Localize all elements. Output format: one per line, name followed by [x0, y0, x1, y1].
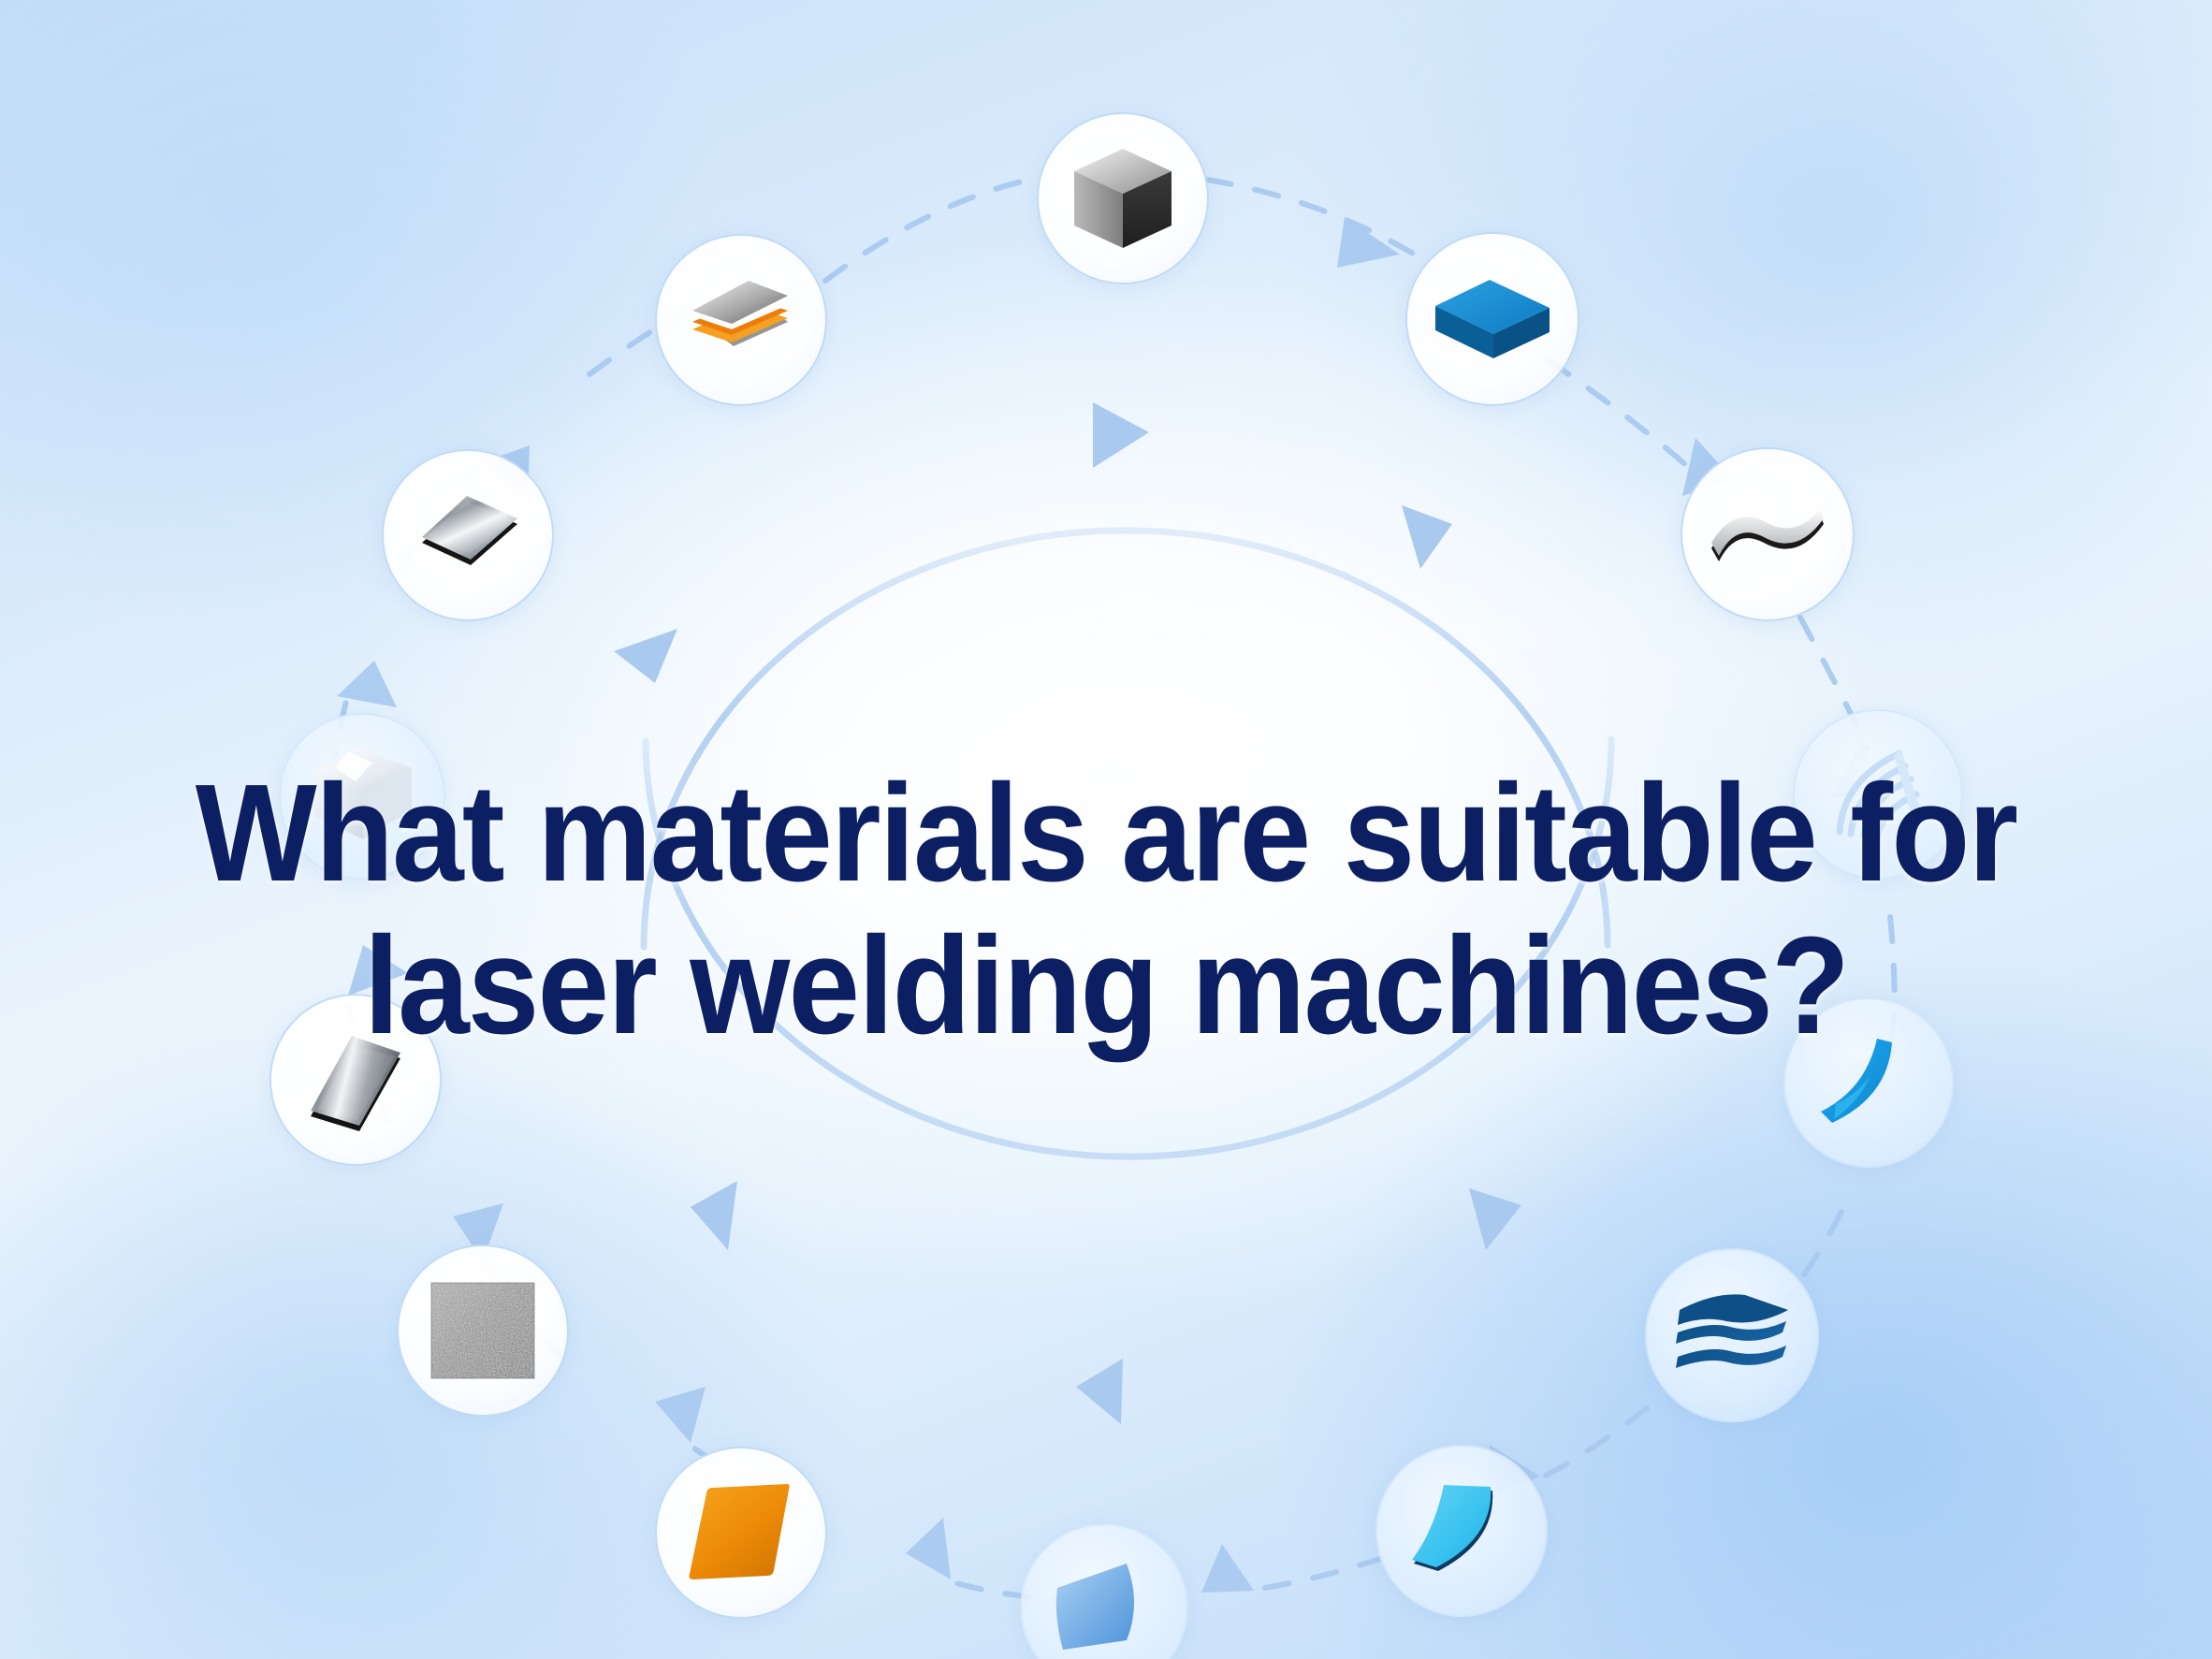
blue-slab-icon: [1432, 274, 1553, 364]
node-brushed-steel-sheet[interactable]: [269, 994, 442, 1166]
brushed-plate-icon: [409, 483, 527, 588]
clad-layered-sheet-icon: [683, 271, 799, 369]
node-brushed-plate[interactable]: [382, 449, 554, 621]
node-cyan-curved-sheet[interactable]: [1375, 1445, 1548, 1617]
metal-cube-icon: [1068, 143, 1178, 254]
inner-arc-bottom: [646, 739, 1611, 1157]
inner-arrowheads: [614, 402, 1521, 1424]
inner-arrow-lower-left: [691, 1181, 737, 1250]
node-white-foil-sheet[interactable]: [279, 713, 445, 880]
inner-arrow-left: [614, 629, 677, 683]
node-metal-wave-sheet[interactable]: [1681, 447, 1855, 621]
inner-arrow-lower-right: [1469, 1188, 1521, 1250]
infographic-canvas: What materials are suitable for laser we…: [0, 0, 2212, 1659]
node-clad-layered-sheet[interactable]: [655, 234, 827, 406]
inner-arrow-bottom: [1076, 1359, 1123, 1424]
blue-crescent-blade-icon: [1815, 1031, 1922, 1134]
corrugated-waves-icon: [1823, 742, 1933, 847]
brushed-steel-sheet-icon: [303, 1021, 408, 1139]
node-orange-sheet[interactable]: [655, 1447, 827, 1619]
blue-curved-panel-icon: [1052, 1558, 1157, 1657]
node-galvanized-texture[interactable]: [397, 1244, 569, 1417]
node-metal-cube[interactable]: [1037, 112, 1209, 284]
white-foil-sheet-icon: [307, 740, 417, 852]
orange-sheet-icon: [684, 1480, 798, 1585]
stacked-layers-icon: [1672, 1284, 1792, 1387]
inner-arc-ring: [644, 531, 1611, 1157]
metal-wave-sheet-icon: [1706, 494, 1829, 575]
galvanized-texture-icon: [429, 1281, 536, 1380]
node-stacked-layers[interactable]: [1645, 1248, 1819, 1422]
node-blue-crescent-blade[interactable]: [1783, 997, 1954, 1168]
node-corrugated-waves[interactable]: [1793, 709, 1963, 880]
cyan-curved-sheet-icon: [1406, 1479, 1517, 1582]
inner-arrow-upper-right: [1402, 505, 1452, 569]
inner-arrow-top: [1093, 402, 1149, 468]
node-blue-slab[interactable]: [1405, 232, 1579, 406]
inner-arc-top: [644, 531, 1608, 947]
